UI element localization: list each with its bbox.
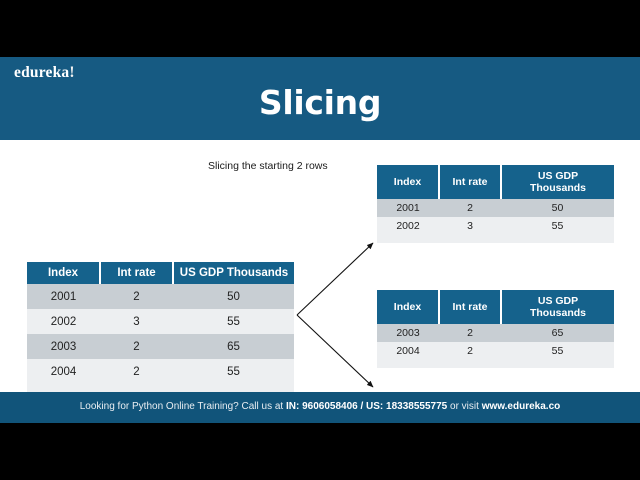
- cell-int-rate: 2: [439, 324, 501, 342]
- spacer-cell: [501, 235, 614, 243]
- letterbox-bottom-bar: [0, 423, 640, 480]
- table-row: 2004 2 55: [27, 359, 294, 384]
- cell-int-rate: 2: [100, 359, 173, 384]
- column-header-int-rate: Int rate: [439, 165, 501, 199]
- table-header-row: Index Int rate US GDP Thousands: [27, 262, 294, 284]
- spacer-cell: [100, 384, 173, 392]
- edureka-logo-exclamation: !: [69, 64, 74, 81]
- page-title: Slicing: [0, 83, 640, 122]
- cell-int-rate: 2: [100, 334, 173, 359]
- caption-starting-rows: Slicing the starting 2 rows: [208, 160, 328, 172]
- cell-int-rate: 2: [439, 199, 501, 217]
- cell-us-gdp: 55: [501, 217, 614, 235]
- letterbox-top-bar: [0, 0, 640, 57]
- table-last-two-rows: Index Int rate US GDPThousands 2003 2 65…: [377, 290, 614, 368]
- column-header-us-gdp-line2: Thousands: [530, 182, 586, 194]
- cell-index: 2002: [27, 309, 100, 334]
- table-first-two-rows: Index Int rate US GDPThousands 2001 2 50…: [377, 165, 614, 243]
- slide-body: Slicing the starting 2 rows Slicing the …: [0, 140, 640, 392]
- spacer-cell: [27, 384, 100, 392]
- edureka-logo-text: edureka: [14, 64, 69, 81]
- cell-index: 2003: [27, 334, 100, 359]
- spacer-cell: [439, 235, 501, 243]
- table-row: 2001 2 50: [377, 199, 614, 217]
- spacer-cell: [439, 360, 501, 368]
- cell-index: 2001: [27, 284, 100, 309]
- cell-int-rate: 3: [439, 217, 501, 235]
- table-row: 2002 3 55: [27, 309, 294, 334]
- cell-index: 2002: [377, 217, 439, 235]
- spacer-cell: [501, 360, 614, 368]
- slide-canvas: edureka! Slicing Slicing the starting 2 …: [0, 57, 640, 423]
- table-row: 2003 2 65: [27, 334, 294, 359]
- cell-index: 2004: [377, 342, 439, 360]
- column-header-us-gdp: US GDPThousands: [501, 165, 614, 199]
- column-header-us-gdp: US GDPThousands: [501, 290, 614, 324]
- cell-us-gdp: 65: [501, 324, 614, 342]
- cell-us-gdp: 50: [501, 199, 614, 217]
- footer-lead-text: Looking for Python Online Training? Call…: [80, 401, 286, 412]
- cell-int-rate: 3: [100, 309, 173, 334]
- cell-index: 2003: [377, 324, 439, 342]
- cell-int-rate: 2: [439, 342, 501, 360]
- table-original-dataframe: Index Int rate US GDP Thousands 2001 2 5…: [27, 262, 294, 392]
- column-header-us-gdp: US GDP Thousands: [173, 262, 294, 284]
- table-row: 2004 2 55: [377, 342, 614, 360]
- table-bottom-spacer: [377, 360, 614, 368]
- spacer-cell: [377, 235, 439, 243]
- table-row: 2002 3 55: [377, 217, 614, 235]
- cell-index: 2001: [377, 199, 439, 217]
- cell-us-gdp: 55: [173, 359, 294, 384]
- cell-us-gdp: 50: [173, 284, 294, 309]
- spacer-cell: [377, 360, 439, 368]
- slide-root: edureka! Slicing Slicing the starting 2 …: [0, 0, 640, 480]
- column-header-int-rate: Int rate: [100, 262, 173, 284]
- table-bottom-spacer: [27, 384, 294, 392]
- cell-us-gdp: 55: [501, 342, 614, 360]
- column-header-index: Index: [377, 165, 439, 199]
- cell-us-gdp: 65: [173, 334, 294, 359]
- table-row: 2001 2 50: [27, 284, 294, 309]
- table-row: 2003 2 65: [377, 324, 614, 342]
- cell-int-rate: 2: [100, 284, 173, 309]
- table-header-row: Index Int rate US GDPThousands: [377, 290, 614, 324]
- table-header-row: Index Int rate US GDPThousands: [377, 165, 614, 199]
- column-header-us-gdp-line1: US GDP: [538, 295, 578, 307]
- slide-header-band: edureka! Slicing: [0, 57, 640, 140]
- cell-us-gdp: 55: [173, 309, 294, 334]
- edureka-logo[interactable]: edureka!: [14, 64, 75, 82]
- column-header-int-rate: Int rate: [439, 290, 501, 324]
- footer-contact-text: Looking for Python Online Training? Call…: [0, 401, 640, 412]
- table-bottom-spacer: [377, 235, 614, 243]
- column-header-us-gdp-line1: US GDP: [538, 170, 578, 182]
- footer-mid-text: or visit: [447, 401, 481, 412]
- column-header-index: Index: [377, 290, 439, 324]
- slide-footer-band: Looking for Python Online Training? Call…: [0, 392, 640, 423]
- cell-index: 2004: [27, 359, 100, 384]
- branch-connector-arrows: [285, 235, 385, 395]
- spacer-cell: [173, 384, 294, 392]
- footer-website-link[interactable]: www.edureka.co: [482, 401, 561, 412]
- footer-phone-numbers: IN: 9606058406 / US: 18338555775: [286, 401, 447, 412]
- column-header-index: Index: [27, 262, 100, 284]
- column-header-us-gdp-line2: Thousands: [530, 307, 586, 319]
